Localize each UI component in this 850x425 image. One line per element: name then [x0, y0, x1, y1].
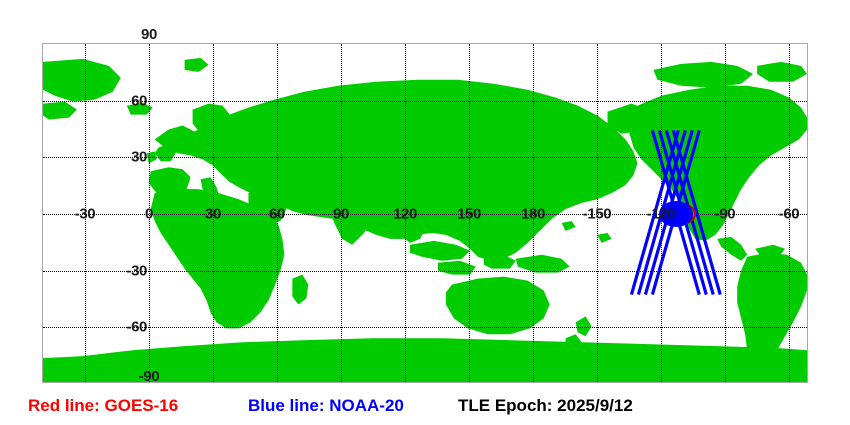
legend: Red line: GOES-16 Blue line: NOAA-20 TLE…: [0, 392, 850, 425]
lon-tick--30: -30: [75, 207, 95, 222]
lat-tick--60: -60: [127, 320, 147, 335]
lon-tick-0: 0: [145, 207, 153, 222]
lat-tick--30: -30: [127, 264, 147, 279]
lon-tick-60: 60: [269, 207, 285, 222]
lat-tick--90: -90: [139, 369, 159, 384]
lon-tick--60: -60: [779, 207, 799, 222]
lon-tick-30: 30: [205, 207, 221, 222]
lat-tick-60: 60: [131, 94, 147, 109]
lat-tick-30: 30: [131, 150, 147, 165]
lon-tick--120: -120: [647, 207, 675, 222]
world-map-panel: -30 0 30 60 90 120 150 180 -150 -120 -90…: [42, 43, 808, 383]
legend-noaa20: Blue line: NOAA-20: [248, 397, 404, 414]
lon-tick-90: 90: [333, 207, 349, 222]
lon-tick-150: 150: [457, 207, 481, 222]
legend-tle-epoch: TLE Epoch: 2025/9/12: [458, 397, 633, 414]
lon-tick-120: 120: [393, 207, 417, 222]
lat-tick-90: 90: [141, 27, 157, 42]
lon-tick--150: -150: [583, 207, 611, 222]
legend-goes16: Red line: GOES-16: [28, 397, 178, 414]
lon-tick--90: -90: [715, 207, 735, 222]
lon-tick-180: 180: [521, 207, 545, 222]
